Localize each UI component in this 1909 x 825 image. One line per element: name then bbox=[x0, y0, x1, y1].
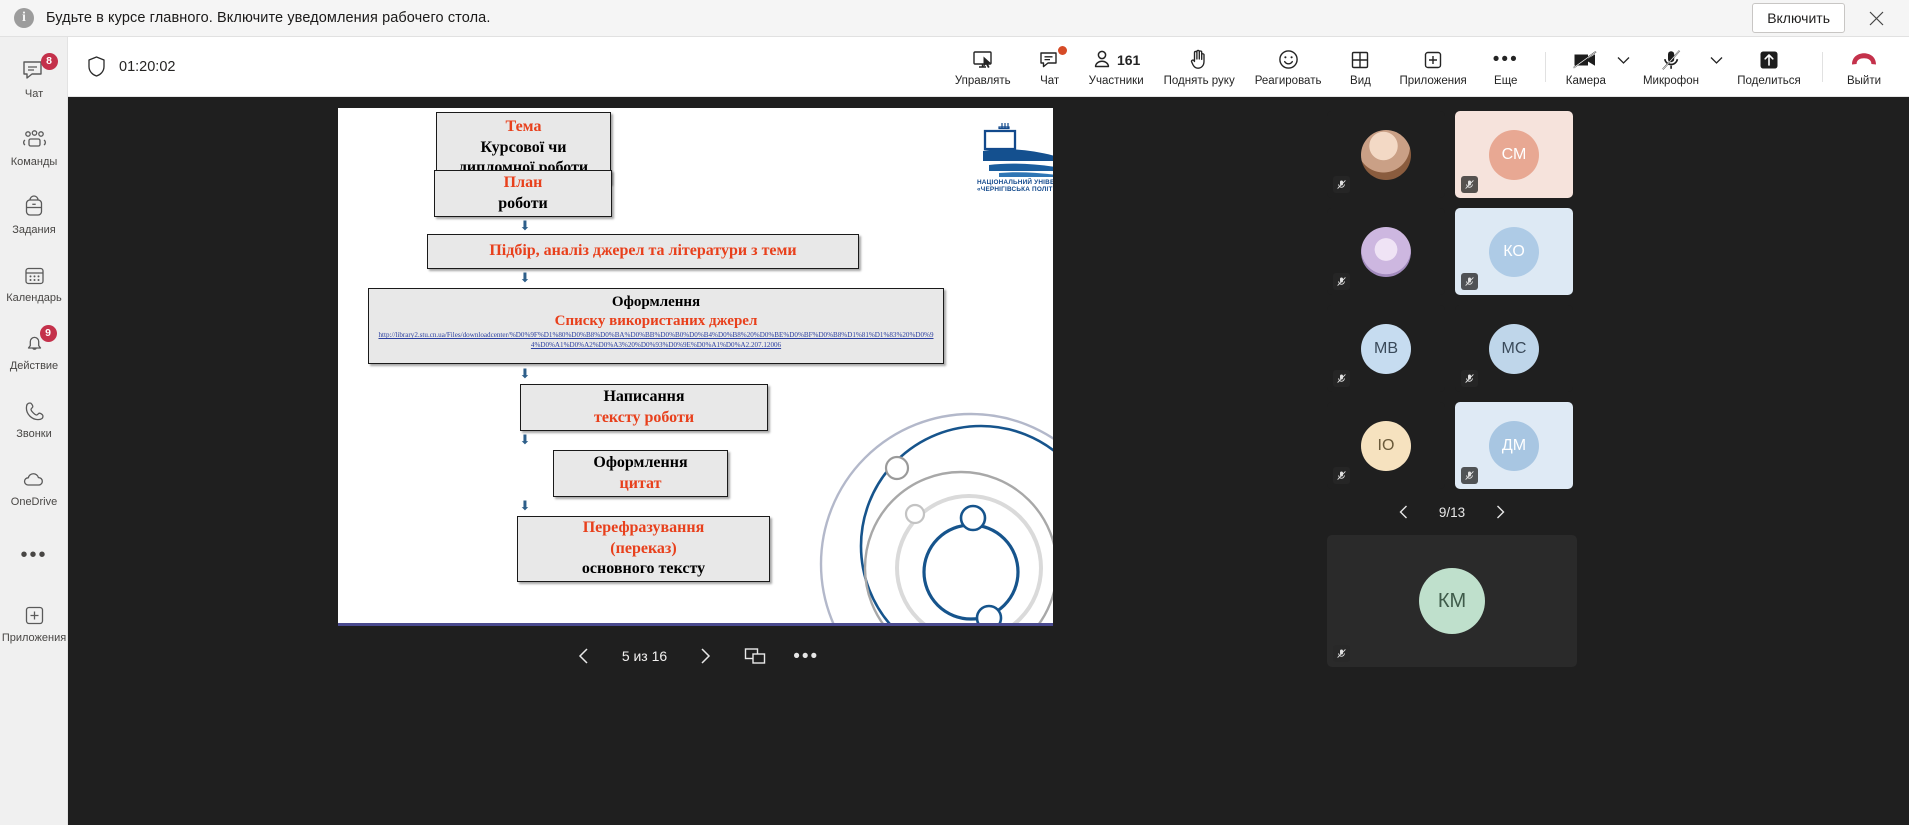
toolbar-item-label: Вид bbox=[1350, 75, 1371, 87]
microphone-toggle-button[interactable]: Микрофон bbox=[1633, 45, 1709, 89]
reactions-button[interactable]: Реагировать bbox=[1245, 45, 1332, 89]
share-screen-icon bbox=[970, 47, 996, 73]
apps-plus-icon bbox=[22, 603, 47, 629]
phone-icon bbox=[22, 399, 46, 425]
meeting-toolbar: 01:20:02 Управлять Чат 161 bbox=[68, 37, 1909, 97]
slide-page-indicator: 5 из 16 bbox=[622, 648, 667, 664]
chat-bubble-icon bbox=[1037, 47, 1063, 73]
flow-box-perefraz-body: основного тексту bbox=[582, 559, 705, 579]
enable-notifications-button[interactable]: Включить bbox=[1752, 3, 1845, 33]
participant-tile[interactable]: ІО bbox=[1327, 402, 1445, 489]
logo-line-1: НАЦІОНАЛЬНИЙ УНІВЕРСИТЕТ bbox=[943, 179, 1053, 186]
sidebar-item-label: Календарь bbox=[6, 292, 62, 304]
toolbar-item-label: Камера bbox=[1566, 75, 1606, 87]
avatar: ДМ bbox=[1489, 421, 1539, 471]
camera-chevron-down-icon[interactable] bbox=[1616, 55, 1633, 79]
slide-navigation-bar: 5 из 16 ••• bbox=[338, 634, 1053, 678]
toolbar-item-label: Выйти bbox=[1847, 75, 1881, 87]
share-content-button[interactable]: Поделиться bbox=[1726, 45, 1812, 89]
participant-tile[interactable] bbox=[1327, 208, 1445, 295]
flow-box-plan-title: План bbox=[504, 173, 543, 193]
sidebar-item-teams[interactable]: Команды bbox=[0, 113, 68, 181]
toolbar-item-label: Участники bbox=[1089, 75, 1144, 87]
banner-message: Будьте в курсе главного. Включите уведом… bbox=[46, 10, 490, 26]
avatar bbox=[1361, 227, 1411, 277]
flow-box-perefrazuvannya: Перефразування (переказ) основного текст… bbox=[517, 516, 770, 582]
sidebar-item-calls[interactable]: Звонки bbox=[0, 385, 68, 453]
slide-bottom-accent-bar bbox=[338, 623, 1053, 626]
apps-plus-icon bbox=[1421, 47, 1445, 73]
apps-button[interactable]: Приложения bbox=[1389, 45, 1476, 89]
reactions-smiley-icon bbox=[1276, 47, 1301, 73]
shared-slide[interactable]: НАЦІОНАЛЬНИЙ УНІВЕРСИТЕТ «ЧЕРНІГІВСЬКА П… bbox=[338, 108, 1053, 626]
toolbar-item-label: Приложения bbox=[1399, 75, 1466, 87]
sidebar-item-label: Команды bbox=[11, 156, 58, 168]
meeting-stage: НАЦІОНАЛЬНИЙ УНІВЕРСИТЕТ «ЧЕРНІГІВСЬКА П… bbox=[68, 97, 1319, 825]
avatar: КО bbox=[1489, 227, 1539, 277]
chat-unread-dot bbox=[1058, 46, 1067, 55]
slide-next-button[interactable] bbox=[693, 644, 717, 668]
participants-panel: СМ КО МВ МС bbox=[1319, 97, 1909, 825]
avatar: МВ bbox=[1361, 324, 1411, 374]
mic-off-icon bbox=[1461, 273, 1478, 290]
flow-box-perefraz-title: Перефразування (переказ) bbox=[583, 518, 705, 559]
decorative-rings-graphic bbox=[793, 396, 1053, 626]
arrow-down-1: ⬇ bbox=[518, 219, 532, 232]
participant-tile[interactable] bbox=[1327, 111, 1445, 198]
raise-hand-button[interactable]: Поднять руку bbox=[1154, 45, 1245, 89]
chat-icon: 8 bbox=[21, 59, 48, 85]
assignments-icon bbox=[22, 195, 46, 221]
participants-count: 161 bbox=[1117, 52, 1140, 68]
flow-box-napysannya-title: Написання bbox=[603, 387, 684, 407]
toolbar-item-label: Поднять руку bbox=[1164, 75, 1235, 87]
desktop-notification-banner: i Будьте в курсе главного. Включите увед… bbox=[0, 0, 1909, 37]
mic-off-icon bbox=[1659, 47, 1683, 73]
chat-badge: 8 bbox=[41, 53, 58, 70]
flow-box-napysannya-subtitle: тексту роботи bbox=[594, 408, 694, 428]
avatar: КМ bbox=[1419, 568, 1485, 634]
slide-prev-button[interactable] bbox=[572, 644, 596, 668]
toolbar-item-label: Микрофон bbox=[1643, 75, 1699, 87]
participant-tile[interactable]: МВ bbox=[1327, 305, 1445, 392]
shield-icon bbox=[86, 55, 107, 78]
teams-icon bbox=[21, 127, 48, 153]
sidebar-item-chat[interactable]: 8 Чат bbox=[0, 45, 68, 113]
flow-box-napysannya: Написання тексту роботи bbox=[520, 384, 768, 431]
app-rail: 8 Чат Команды Задания bbox=[0, 37, 68, 825]
toolbar-divider bbox=[1545, 52, 1546, 82]
raise-hand-icon bbox=[1187, 47, 1211, 73]
sidebar-item-label: Задания bbox=[12, 224, 55, 236]
view-button[interactable]: Вид bbox=[1331, 45, 1389, 89]
sidebar-item-more[interactable]: ••• bbox=[0, 521, 68, 589]
flow-box-oformlennya-tsytat: Оформлення цитат bbox=[553, 450, 728, 497]
bell-icon: 9 bbox=[22, 331, 47, 357]
info-icon: i bbox=[14, 8, 34, 28]
sidebar-item-assignments[interactable]: Задания bbox=[0, 181, 68, 249]
participant-tile-grid: СМ КО МВ МС bbox=[1327, 111, 1895, 489]
arrow-down-5: ⬇ bbox=[518, 499, 532, 512]
avatar: ІО bbox=[1361, 421, 1411, 471]
sidebar-item-label: Приложения bbox=[2, 632, 66, 644]
people-icon: 161 bbox=[1092, 47, 1140, 73]
toolbar-item-label: Управлять bbox=[955, 75, 1011, 87]
cloud-icon bbox=[21, 467, 48, 493]
arrow-down-2: ⬇ bbox=[518, 271, 532, 284]
toolbar-item-label: Чат bbox=[1040, 75, 1059, 87]
sidebar-item-onedrive[interactable]: OneDrive bbox=[0, 453, 68, 521]
sidebar-item-label: Чат bbox=[25, 88, 43, 100]
arrow-down-3: ⬇ bbox=[518, 367, 532, 380]
sidebar-item-label: Звонки bbox=[16, 428, 52, 440]
flow-box-pidbir: Підбір, аналіз джерел та літератури з те… bbox=[427, 234, 859, 269]
sidebar-item-activity[interactable]: 9 Действие bbox=[0, 317, 68, 385]
flow-box-oformlennya-spysku: Оформлення Списку використаних джерел ht… bbox=[368, 288, 944, 364]
toolbar-divider-2 bbox=[1822, 52, 1823, 82]
toolbar-item-label: Поделиться bbox=[1737, 75, 1801, 87]
source-list-link[interactable]: http://library2.stu.cn.ua/Files/download… bbox=[369, 331, 943, 350]
activity-badge: 9 bbox=[40, 325, 57, 342]
slide-more-dots-icon[interactable]: ••• bbox=[793, 647, 819, 666]
avatar: СМ bbox=[1489, 130, 1539, 180]
mic-off-icon bbox=[1461, 467, 1478, 484]
mic-off-icon bbox=[1461, 176, 1478, 193]
sidebar-item-label: OneDrive bbox=[11, 496, 57, 508]
camera-toggle-button[interactable]: Камера bbox=[1556, 45, 1616, 89]
more-options-button[interactable]: ••• Еще bbox=[1477, 45, 1535, 89]
share-up-icon bbox=[1756, 47, 1782, 73]
meeting-timer: 01:20:02 bbox=[119, 59, 175, 75]
sidebar-item-label: Действие bbox=[10, 360, 58, 372]
toolbar-item-label: Еще bbox=[1494, 75, 1517, 87]
hangup-icon bbox=[1849, 47, 1879, 73]
mic-off-icon bbox=[1333, 370, 1350, 387]
flow-box-tsytat-subtitle: цитат bbox=[620, 474, 662, 494]
mic-off-icon bbox=[1333, 273, 1350, 290]
mic-off-icon bbox=[1461, 370, 1478, 387]
participant-tile[interactable]: СМ bbox=[1455, 111, 1573, 198]
manage-screen-share-button[interactable]: Управлять bbox=[945, 45, 1021, 89]
flow-box-plan: План роботи bbox=[434, 170, 612, 217]
arrow-down-4: ⬇ bbox=[518, 433, 532, 446]
sidebar-item-apps[interactable]: Приложения bbox=[0, 589, 68, 657]
participants-prev-button[interactable] bbox=[1393, 501, 1415, 523]
sidebar-item-calendar[interactable]: Календарь bbox=[0, 249, 68, 317]
participants-button[interactable]: 161 Участники bbox=[1079, 45, 1154, 89]
participants-pager: 9/13 bbox=[1327, 501, 1577, 523]
logo-line-2: «ЧЕРНІГІВСЬКА ПОЛІТЕХНІКА» bbox=[943, 186, 1053, 193]
leave-meeting-button[interactable]: Выйти bbox=[1833, 45, 1895, 89]
chat-button[interactable]: Чат bbox=[1021, 45, 1079, 89]
more-dots-icon: ••• bbox=[1493, 47, 1519, 73]
view-grid-icon bbox=[1348, 47, 1372, 73]
camera-off-icon bbox=[1571, 47, 1601, 73]
toolbar-item-label: Реагировать bbox=[1255, 75, 1322, 87]
flow-box-spysku-subtitle: Списку використаних джерел bbox=[555, 312, 758, 331]
flow-box-tema-title: Тема bbox=[506, 117, 542, 137]
mic-off-icon bbox=[1333, 467, 1350, 484]
flow-box-tsytat-title: Оформлення bbox=[593, 453, 687, 473]
university-logo: НАЦІОНАЛЬНИЙ УНІВЕРСИТЕТ «ЧЕРНІГІВСЬКА П… bbox=[943, 121, 1053, 193]
participants-next-button[interactable] bbox=[1489, 501, 1511, 523]
thumbnails-icon[interactable] bbox=[743, 644, 767, 668]
participants-page-indicator: 9/13 bbox=[1439, 505, 1465, 520]
participant-tile[interactable]: ДМ bbox=[1455, 402, 1573, 489]
spotlight-participant-tile[interactable]: КМ bbox=[1327, 535, 1577, 667]
calendar-icon bbox=[22, 263, 47, 289]
avatar bbox=[1361, 130, 1411, 180]
avatar: МС bbox=[1489, 324, 1539, 374]
microphone-chevron-down-icon[interactable] bbox=[1709, 55, 1726, 79]
participant-tile[interactable]: КО bbox=[1455, 208, 1573, 295]
flow-box-plan-body: роботи bbox=[498, 194, 548, 214]
participant-tile[interactable]: МС bbox=[1455, 305, 1573, 392]
flow-box-spysku-title: Оформлення bbox=[612, 293, 700, 312]
mic-off-icon bbox=[1333, 645, 1350, 662]
more-icon: ••• bbox=[20, 542, 47, 568]
mic-off-icon bbox=[1333, 176, 1350, 193]
close-icon[interactable] bbox=[1863, 5, 1889, 31]
flow-box-pidbir-title: Підбір, аналіз джерел та літератури з те… bbox=[489, 241, 796, 261]
